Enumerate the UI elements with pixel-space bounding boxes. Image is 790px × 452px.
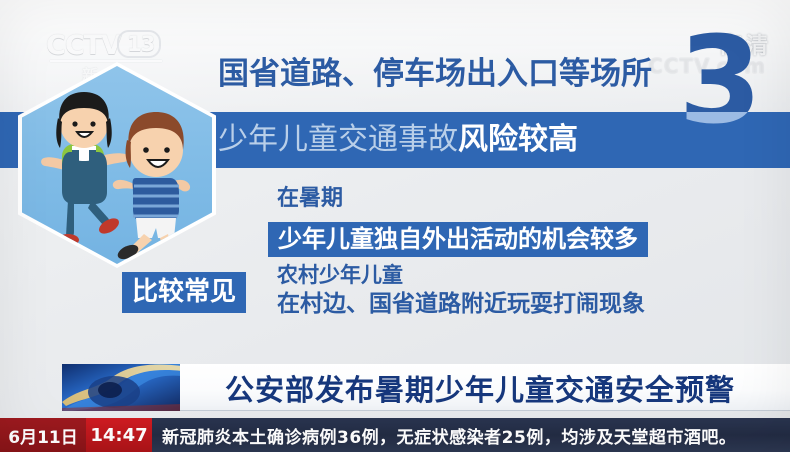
lower-third: 公安部发布暑期少年儿童交通安全预警 xyxy=(62,364,790,411)
low-text-block: 农村少年儿童 在村边、国省道路附近玩耍打闹现象 xyxy=(277,262,645,319)
low-line-1: 农村少年儿童 xyxy=(277,262,645,289)
broadcast-screen: CCTV13 新闻 高清 CCTV.com 3 国省道路、停车场出入口等场所 3… xyxy=(0,0,790,452)
girl-figure xyxy=(41,92,129,246)
ticker-date: 6月11日 xyxy=(0,418,86,452)
ticker-time: 14:47 xyxy=(86,418,152,452)
running-children-graphic xyxy=(22,66,212,264)
mid-label: 在暑期 xyxy=(277,186,343,212)
cctv-logo-main: CCTV xyxy=(46,30,121,61)
ticker-text: 新冠肺炎本土确诊病例36例，无症状感染者25例，均涉及天堂超市酒吧。 xyxy=(152,418,790,452)
cctv-logo-text: CCTV13 xyxy=(46,30,170,60)
banner-headline: 少年儿童交通事故风险较高 xyxy=(218,118,578,162)
lower-third-swirl-graphic xyxy=(62,364,182,411)
low-line-2: 在村边、国省道路附近玩耍打闹现象 xyxy=(277,289,645,319)
cctv-logo-number: 13 xyxy=(117,30,161,58)
boy-figure xyxy=(113,112,190,264)
banner-bright-text: 风险较高 xyxy=(458,122,578,157)
low-highlight-box: 比较常见 xyxy=(122,272,246,313)
kids-illustration xyxy=(18,62,216,268)
lower-third-plate: 公安部发布暑期少年儿童交通安全预警 xyxy=(180,364,790,411)
headline-line-1: 国省道路、停车场出入口等场所 xyxy=(218,52,652,96)
banner-dim-text: 少年儿童交通事故 xyxy=(218,122,458,157)
lower-third-title: 公安部发布暑期少年儿童交通安全预警 xyxy=(180,364,780,411)
hexagon-photo-area xyxy=(22,66,212,264)
low-box-text: 比较常见 xyxy=(132,272,236,313)
news-ticker: 6月11日 14:47 新冠肺炎本土确诊病例36例，无症状感染者25例，均涉及天… xyxy=(0,418,790,452)
mid-bar-text: 少年儿童独自外出活动的机会较多 xyxy=(278,222,638,257)
mid-highlight-bar: 少年儿童独自外出活动的机会较多 xyxy=(268,222,648,257)
